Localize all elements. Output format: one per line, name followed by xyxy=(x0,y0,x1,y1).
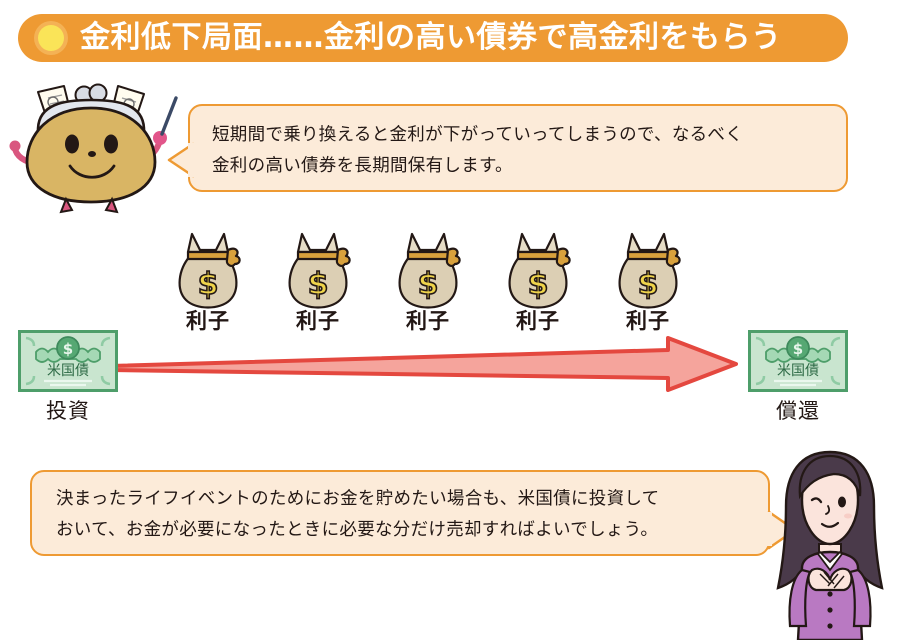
bubble-top-line-1: 短期間で乗り換えると金利が下がっていってしまうので、なるべく xyxy=(212,120,846,151)
title-banner: 金利低下局面……金利の高い債券で高金利をもらう xyxy=(18,14,848,62)
svg-text:$: $ xyxy=(528,267,549,302)
yellow-circle-icon xyxy=(38,25,64,51)
bond-right: $ 米国債 償還 xyxy=(748,330,848,422)
bubble-bottom-line-1: 決まったライフイベントのためにお金を貯めたい場合も、米国債に投資して xyxy=(56,484,768,515)
infographic-canvas: 金利低下局面……金利の高い債券で高金利をもらう xyxy=(0,0,900,640)
interest-bag-1: $ 利子 xyxy=(160,228,256,332)
svg-text:$: $ xyxy=(418,267,439,302)
interest-bag-5: $ 利子 xyxy=(600,228,696,332)
bond-left-label: 投資 xyxy=(18,401,118,422)
interest-bag-label: 利子 xyxy=(380,311,476,332)
bubble-top-line-2: 金利の高い債券を長期間保有します。 xyxy=(212,151,846,182)
svg-text:$: $ xyxy=(638,267,659,302)
bond-right-label: 償還 xyxy=(748,401,848,422)
interest-bag-2: $ 利子 xyxy=(270,228,366,332)
page-title: 金利低下局面……金利の高い債券で高金利をもらう xyxy=(80,23,782,53)
bond-left: $ 米国債 投資 xyxy=(18,330,118,422)
speech-bubble-top: 短期間で乗り換えると金利が下がっていってしまうので、なるべく 金利の高い債券を長… xyxy=(188,104,848,192)
bond-right-certificate-text: 米国債 xyxy=(777,363,819,379)
interest-bag-3: $ 利子 xyxy=(380,228,476,332)
interest-bag-label: 利子 xyxy=(160,311,256,332)
svg-text:$: $ xyxy=(198,267,219,302)
woman-character xyxy=(762,448,898,640)
interest-bag-4: $ 利子 xyxy=(490,228,586,332)
interest-bag-label: 利子 xyxy=(600,311,696,332)
svg-text:$: $ xyxy=(793,340,803,358)
right-arrow-icon xyxy=(108,336,738,392)
svg-text:$: $ xyxy=(63,340,73,358)
speech-bubble-top-tail xyxy=(166,140,196,184)
interest-bag-label: 利子 xyxy=(490,311,586,332)
svg-text:$: $ xyxy=(308,267,329,302)
bond-left-certificate-text: 米国債 xyxy=(47,363,89,379)
coin-purse-mascot xyxy=(8,78,188,214)
interest-bags-row: $ 利子 $ 利子 xyxy=(160,228,700,340)
bubble-bottom-line-2: おいて、お金が必要になったときに必要な分だけ売却すればよいでしょう。 xyxy=(56,515,768,546)
speech-bubble-bottom: 決まったライフイベントのためにお金を貯めたい場合も、米国債に投資して おいて、お… xyxy=(30,470,770,556)
interest-bag-label: 利子 xyxy=(270,311,366,332)
